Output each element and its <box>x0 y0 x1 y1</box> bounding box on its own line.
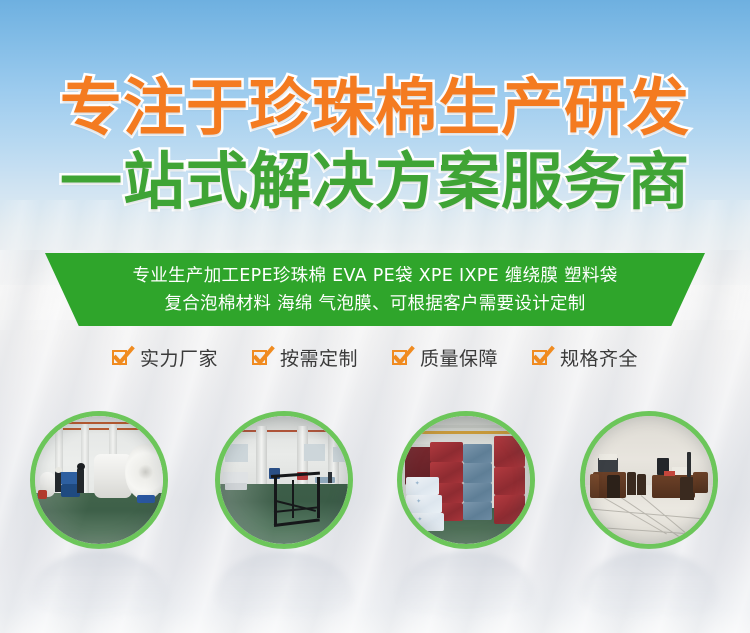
photo-gallery: ✦ ✦ ✦ <box>0 411 750 556</box>
check-box-icon <box>252 348 271 367</box>
feature-item-2: 质量保障 <box>392 344 498 371</box>
headline-secondary: 一站式解决方案服务商 <box>0 146 750 218</box>
feature-item-0: 实力厂家 <box>112 344 218 371</box>
band-line-2: 复合泡棉材料 海绵 气泡膜、可根据客户需要设计定制 <box>164 291 585 317</box>
factory-foam-rolls-photo <box>30 411 168 549</box>
product-list-band: 专业生产加工EPE珍珠棉 EVA PE袋 XPE IXPE 缠绕膜 塑料袋 复合… <box>0 253 750 326</box>
feature-item-1: 按需定制 <box>252 344 358 371</box>
feature-item-3: 规格齐全 <box>532 344 638 371</box>
band-line-1: 专业生产加工EPE珍珠棉 EVA PE袋 XPE IXPE 缠绕膜 塑料袋 <box>133 263 618 289</box>
warehouse-stock-photo: ✦ ✦ ✦ <box>397 411 535 549</box>
check-box-icon <box>392 348 411 367</box>
check-box-icon <box>532 348 551 367</box>
feature-label-0: 实力厂家 <box>140 344 218 371</box>
feature-label-3: 规格齐全 <box>560 344 638 371</box>
headline-group: 专注于珍珠棉生产研发 一站式解决方案服务商 <box>0 72 750 218</box>
office-interior-photo <box>580 411 718 549</box>
band-text-group: 专业生产加工EPE珍珠棉 EVA PE袋 XPE IXPE 缠绕膜 塑料袋 复合… <box>0 253 750 326</box>
headline-primary: 专注于珍珠棉生产研发 <box>0 72 750 144</box>
feature-label-2: 质量保障 <box>420 344 498 371</box>
feature-label-1: 按需定制 <box>280 344 358 371</box>
factory-steel-frame-photo <box>215 411 353 549</box>
feature-list: 实力厂家 按需定制 质量保障 <box>0 336 750 378</box>
promo-banner: 专注于珍珠棉生产研发 一站式解决方案服务商 专业生产加工EPE珍珠棉 EVA P… <box>0 0 750 633</box>
check-box-icon <box>112 348 131 367</box>
